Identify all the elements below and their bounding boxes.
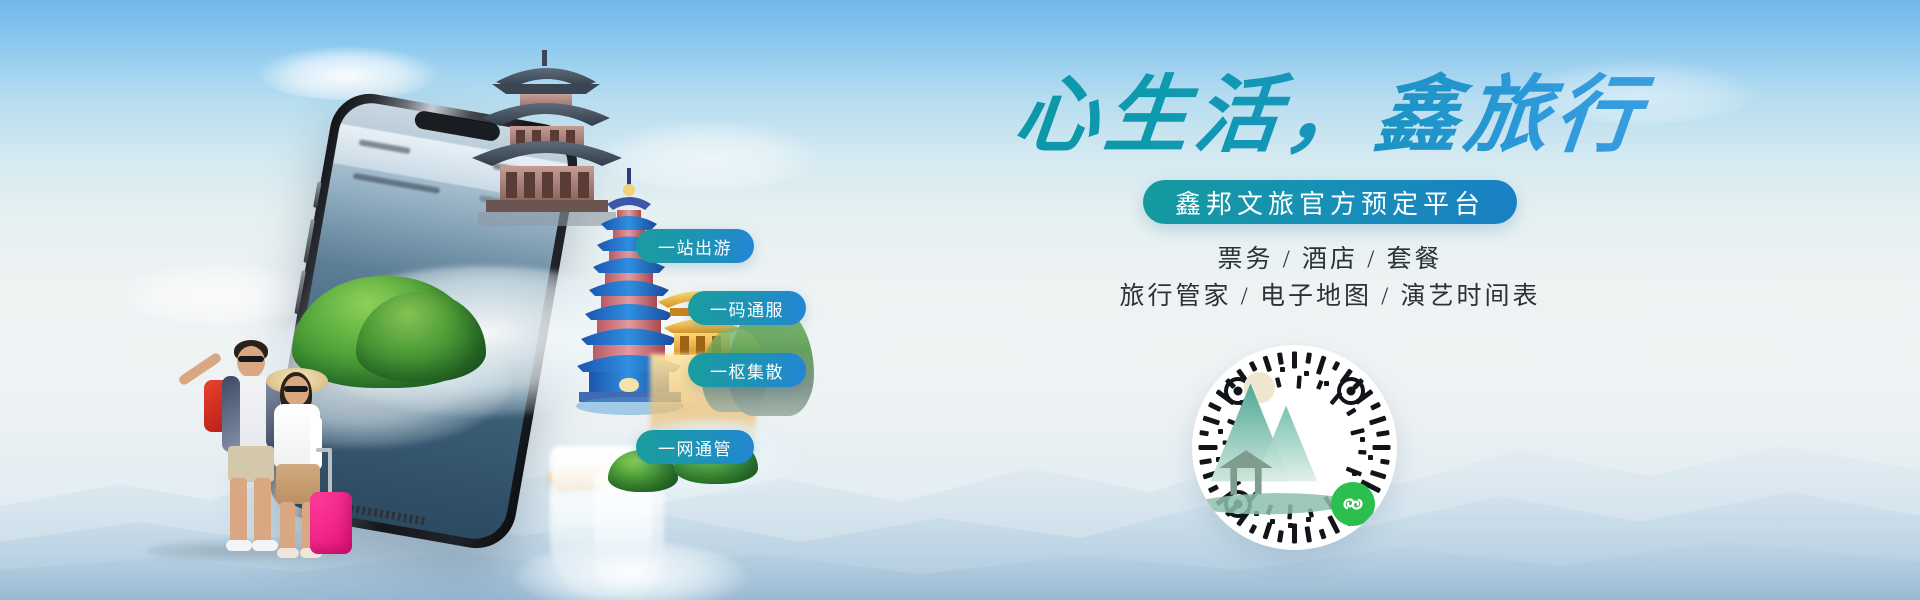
feature-pill-0[interactable]: 一站出游 (636, 229, 754, 263)
banner-headline: 心生活，鑫旅行 (975, 70, 1685, 164)
pink-suitcase (310, 492, 352, 554)
feature-pill-3[interactable]: 一网通管 (636, 430, 754, 464)
traveling-couple (170, 318, 360, 568)
suitcase-handle (328, 450, 332, 494)
feature-pill-label: 一码通服 (710, 296, 784, 321)
feature-pill-label: 一站出游 (658, 234, 732, 259)
feature-pill-2[interactable]: 一枢集散 (688, 353, 806, 387)
brand-platform-pill[interactable]: 鑫邦文旅官方预定平台 (1143, 180, 1517, 224)
promo-banner: 一站出游 一码通服 一枢集散 一网通管 心生活，鑫旅行 鑫邦文旅官方预定平台 票… (0, 0, 1920, 600)
wechat-miniprogram-icon (1331, 482, 1375, 526)
banner-copy-block: 心生活，鑫旅行 鑫邦文旅官方预定平台 票务 / 酒店 / 套餐 旅行管家 / 电… (980, 70, 1680, 315)
suitcase-handle (316, 448, 332, 452)
services-list: 票务 / 酒店 / 套餐 旅行管家 / 电子地图 / 演艺时间表 (980, 242, 1680, 315)
services-line-2: 旅行管家 / 电子地图 / 演艺时间表 (980, 279, 1680, 316)
hero-illustration (150, 18, 770, 578)
feature-pill-1[interactable]: 一码通服 (688, 291, 806, 325)
feature-pill-label: 一枢集散 (710, 358, 784, 383)
brand-platform-label: 鑫邦文旅官方预定平台 (1175, 184, 1485, 221)
qr-brand-text: 鑫旅行 (1380, 351, 1395, 402)
wechat-qr-code[interactable]: 鑫旅行 (1192, 345, 1397, 550)
services-line-1: 票务 / 酒店 / 套餐 (980, 242, 1680, 279)
feature-pill-label: 一网通管 (658, 435, 732, 460)
